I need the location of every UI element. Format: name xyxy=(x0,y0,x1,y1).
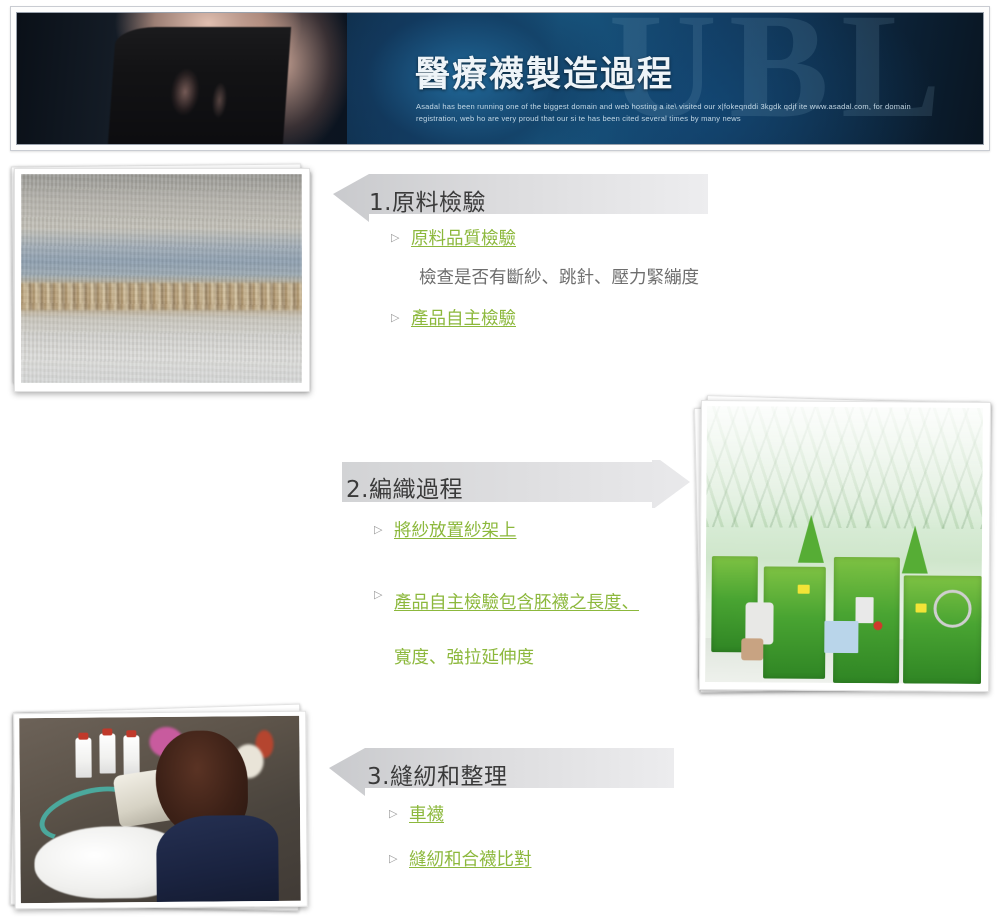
triangle-bullet-icon: ▷ xyxy=(391,232,405,243)
yellow-label xyxy=(916,604,927,613)
bullet-label-line2: 寬度、強拉延伸度 xyxy=(394,645,534,672)
sewing-worker-photo xyxy=(8,706,313,912)
banner-subtext: Asadal has been running one of the bigge… xyxy=(416,101,916,124)
thread-cone xyxy=(123,735,139,775)
bullet-label[interactable]: 車襪 xyxy=(409,802,444,829)
step-3-bullets: ▷ 車襪 ▷ 縫紉和合襪比對 xyxy=(389,802,719,886)
control-panel xyxy=(855,597,873,623)
bullet-label-line1: 產品自主檢驗包含胚襪之長度、 xyxy=(394,593,639,613)
bullet-item[interactable]: ▷ 產品自主檢驗包含胚襪之長度、 寬度、強拉延伸度 xyxy=(374,563,714,672)
step-1-title: 1.原料檢驗 xyxy=(369,183,486,217)
yarn-grain xyxy=(21,174,302,383)
bullet-item[interactable]: ▷ 縫紉和合襪比對 xyxy=(389,847,719,874)
bullet-item[interactable]: ▷ 車襪 xyxy=(389,802,719,829)
bullet-label[interactable]: 產品自主檢驗包含胚襪之長度、 寬度、強拉延伸度 xyxy=(394,563,639,672)
lace-detail xyxy=(108,27,291,145)
raw-material-image xyxy=(21,174,302,383)
worker-sewing-scene xyxy=(19,716,301,903)
bullet-item[interactable]: ▷ 原料品質檢驗 xyxy=(391,226,811,253)
bullet-label[interactable]: 產品自主檢驗 xyxy=(411,306,516,333)
blue-bin xyxy=(824,621,858,653)
yellow-label xyxy=(798,585,810,594)
machine-cone xyxy=(798,515,824,563)
bullet-label[interactable]: 將紗放置紗架上 xyxy=(394,518,517,545)
step-1-bullets: ▷ 原料品質檢驗 ▷ 檢查是否有斷紗、跳針、壓力緊繃度 ▷ 產品自主檢驗 xyxy=(391,226,811,345)
step-2-bullets: ▷ 將紗放置紗架上 ▷ 產品自主檢驗包含胚襪之長度、 寬度、強拉延伸度 xyxy=(374,518,714,684)
triangle-bullet-icon: ▷ xyxy=(374,589,388,600)
bullet-label[interactable]: 縫紉和合襪比對 xyxy=(409,847,532,874)
triangle-bullet-icon: ▷ xyxy=(374,524,388,535)
banner-lingerie-photo xyxy=(17,13,347,144)
factory-floor-scene xyxy=(705,406,983,684)
triangle-bullet-icon: ▷ xyxy=(389,808,403,819)
banner-title: 醫療襪製造過程 xyxy=(415,55,674,95)
emergency-stop-button xyxy=(873,621,882,630)
triangle-bullet-icon: ▷ xyxy=(389,853,403,864)
bullet-label[interactable]: 原料品質檢驗 xyxy=(411,226,516,253)
thread-cone xyxy=(75,738,91,778)
coiled-hose xyxy=(933,590,971,628)
triangle-bullet-icon: ▷ xyxy=(391,312,405,323)
knitting-machine-image xyxy=(705,406,983,684)
thread-cone xyxy=(99,733,115,773)
bullet-item[interactable]: ▷ 產品自主檢驗 xyxy=(391,306,811,333)
step-3-title: 3.縫紉和整理 xyxy=(367,757,507,791)
worker-torso xyxy=(156,815,279,902)
bullet-note-label: 檢查是否有斷紗、跳針、壓力緊繃度 xyxy=(419,265,699,292)
knitting-machines-photo xyxy=(693,393,995,696)
raw-material-yarn-photo xyxy=(8,163,313,395)
banner-frame: UBL 醫療襪製造過程 Asadal has been running one … xyxy=(10,6,990,151)
sewing-image xyxy=(19,716,301,903)
ceiling-pipes xyxy=(706,406,983,529)
bullet-item-note: ▷ 檢查是否有斷紗、跳針、壓力緊繃度 xyxy=(391,265,811,292)
bullet-item[interactable]: ▷ 將紗放置紗架上 xyxy=(374,518,714,545)
cardboard-box xyxy=(741,638,763,660)
step-2-title: 2.編織過程 xyxy=(346,470,463,504)
machine-cone xyxy=(902,525,928,573)
banner-image: UBL 醫療襪製造過程 Asadal has been running one … xyxy=(16,12,984,145)
